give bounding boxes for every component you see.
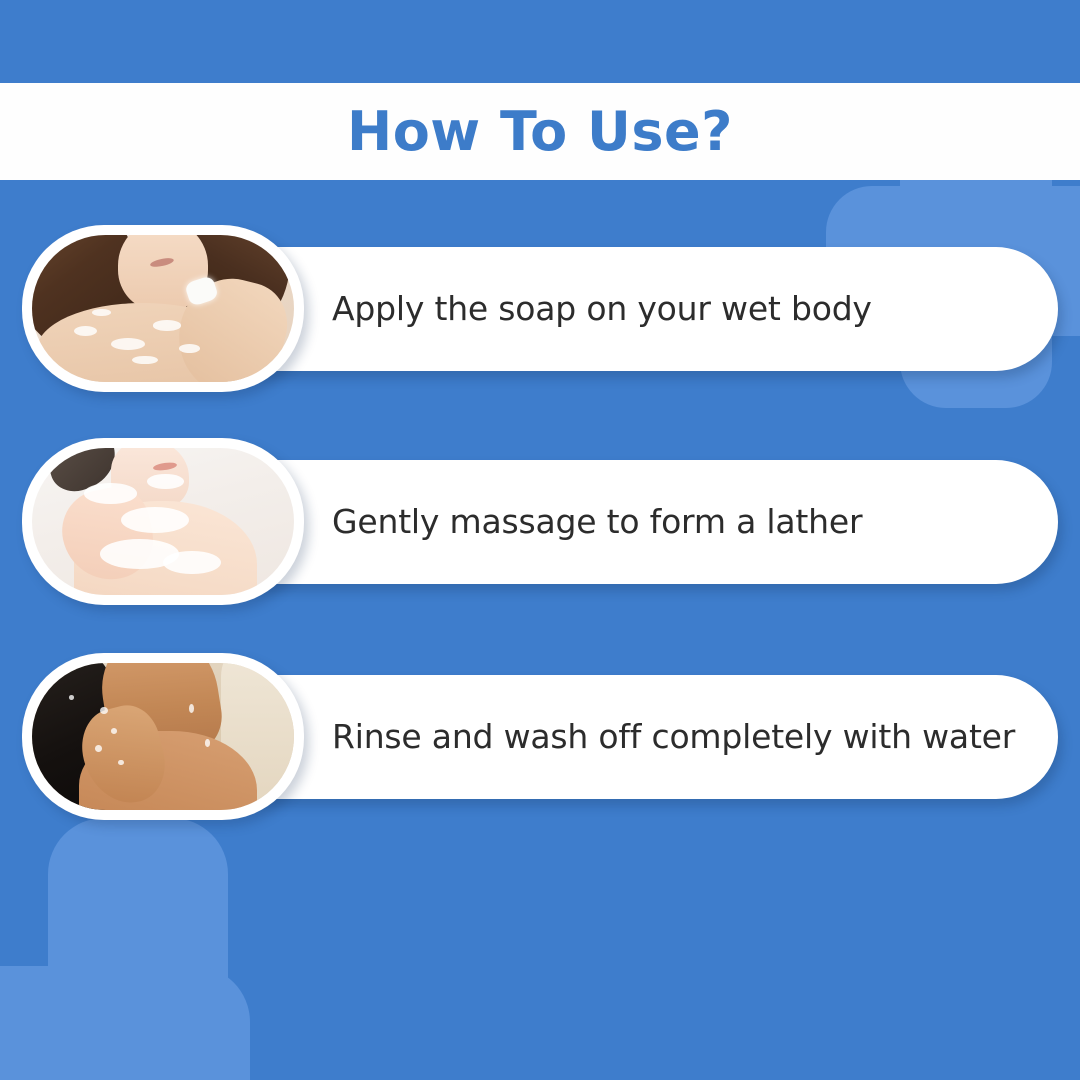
step-thumbnail-frame: [22, 438, 304, 605]
step-label: Rinse and wash off completely with water: [332, 718, 1015, 756]
step-row: Apply the soap on your wet body: [0, 225, 1080, 400]
step-row: Gently massage to form a lather: [0, 438, 1080, 613]
cross-horizontal-arm: [0, 966, 250, 1080]
step-label: Gently massage to form a lather: [332, 503, 862, 541]
step-label: Apply the soap on your wet body: [332, 290, 872, 328]
bottom-left-cross-decoration: [0, 888, 240, 1080]
step-thumbnail-image: [32, 448, 294, 595]
cross-vertical-arm: [48, 818, 228, 1080]
step-thumbnail-frame: [22, 225, 304, 392]
page-title: How To Use?: [347, 105, 733, 159]
step-thumbnail-image: [32, 663, 294, 810]
step-row: Rinse and wash off completely with water: [0, 653, 1080, 828]
title-band: How To Use?: [0, 83, 1080, 180]
step-thumbnail-image: [32, 235, 294, 382]
how-to-use-poster: How To Use? Apply the soap on your wet b…: [0, 0, 1080, 1080]
step-thumbnail-frame: [22, 653, 304, 820]
